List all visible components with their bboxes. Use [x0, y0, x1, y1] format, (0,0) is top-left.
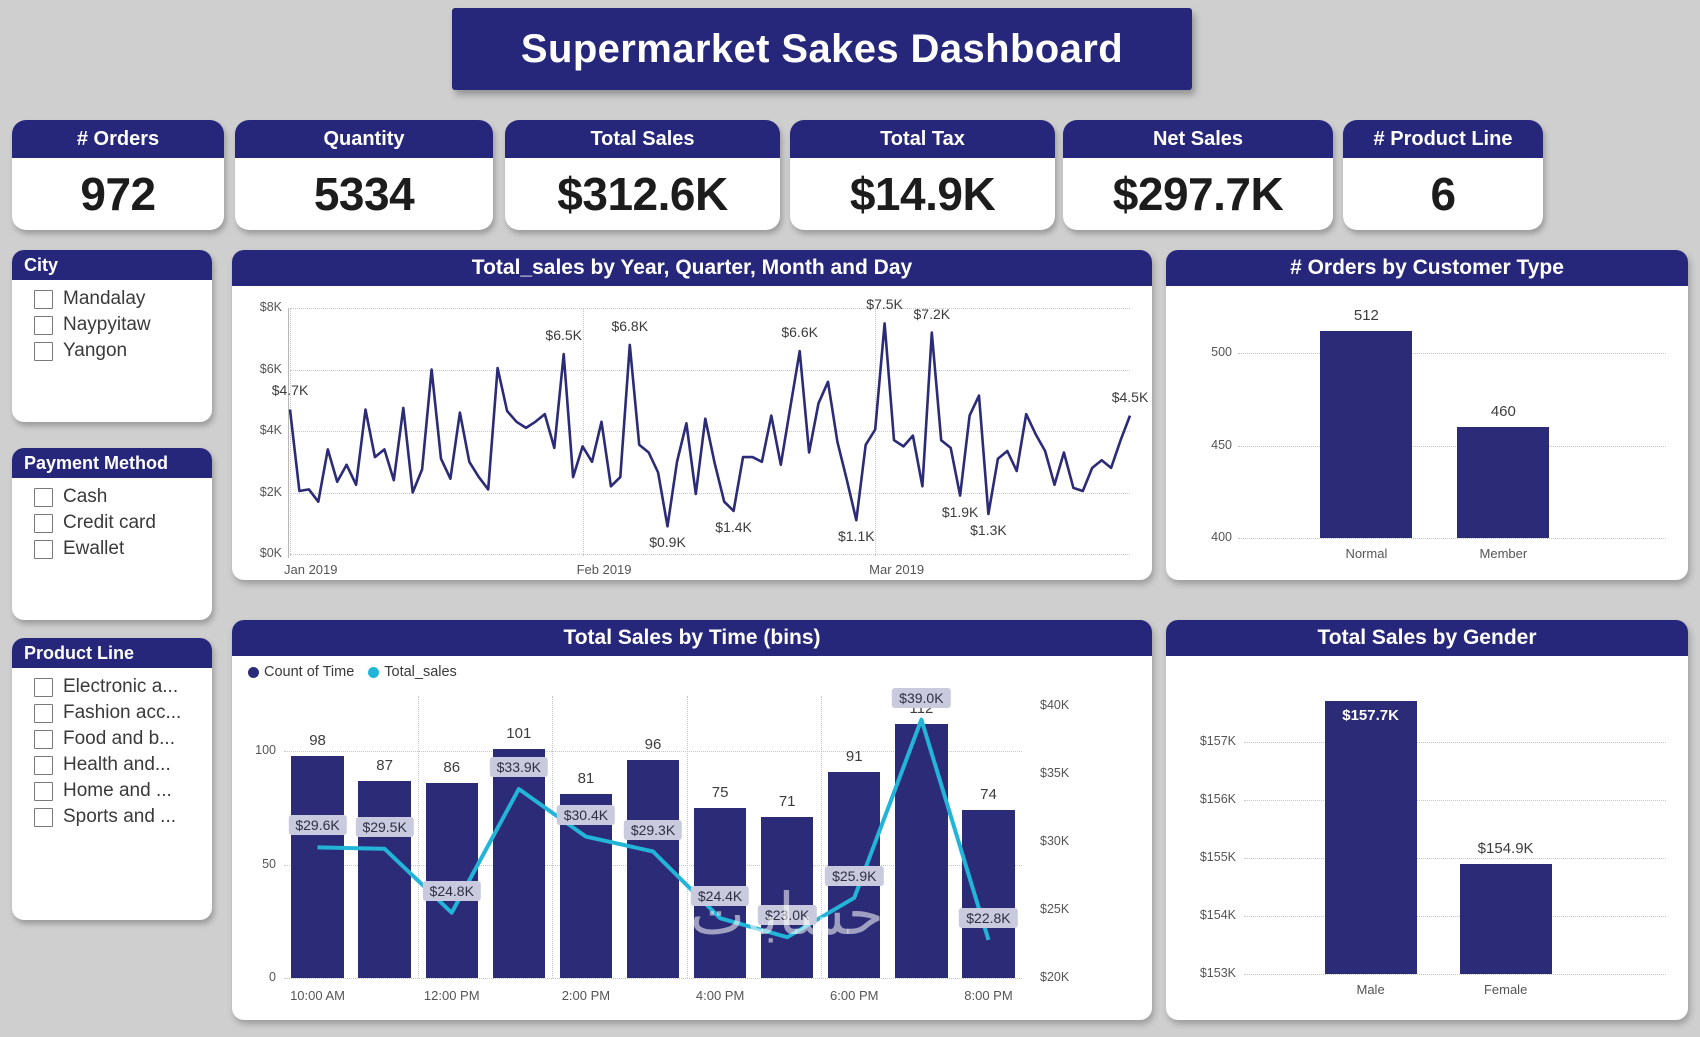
panel-total-sales-by-time: Total Sales by Time (bins) Count of Time…	[232, 620, 1152, 1020]
x-axis-tick: Female	[1484, 982, 1527, 997]
kpi-value: 6	[1343, 158, 1543, 230]
slicer-item-label: Fashion acc...	[63, 702, 181, 724]
kpi-label: # Orders	[12, 120, 224, 158]
line-value-label: $33.9K	[490, 757, 548, 777]
panel-title: # Orders by Customer Type	[1166, 250, 1688, 286]
slicer-item-label: Yangon	[63, 340, 127, 362]
time-bins-chart[interactable]: Count of TimeTotal_sales050100$20K$25K$3…	[232, 656, 1152, 1020]
bar-value-label: 512	[1354, 307, 1379, 324]
slicer-item-label: Food and b...	[63, 728, 175, 750]
x-axis-tick: Mar 2019	[869, 562, 924, 577]
slicer-item[interactable]: Naypyitaw	[12, 312, 212, 338]
slicer-payment-method: Payment MethodCashCredit cardEwallet	[12, 448, 212, 620]
kpi-card: # Orders972	[12, 120, 224, 230]
kpi-value: $14.9K	[790, 158, 1055, 230]
slicer-product-line: Product LineElectronic a...Fashion acc..…	[12, 638, 212, 920]
kpi-label: Total Tax	[790, 120, 1055, 158]
gridline	[1244, 742, 1666, 743]
checkbox-icon[interactable]	[34, 514, 53, 533]
bar-value-label: $154.9K	[1478, 840, 1534, 857]
slicer-items: Electronic a...Fashion acc...Food and b.…	[12, 668, 212, 840]
kpi-label: Quantity	[235, 120, 493, 158]
checkbox-icon[interactable]	[34, 782, 53, 801]
kpi-card: Total Sales$312.6K	[505, 120, 780, 230]
kpi-value: 5334	[235, 158, 493, 230]
slicer-items: CashCredit cardEwallet	[12, 478, 212, 572]
gender-chart[interactable]: $153K$154K$155K$156K$157K$157.7KMale$154…	[1166, 656, 1688, 1020]
gridline	[1244, 858, 1666, 859]
gridline	[1238, 538, 1666, 539]
data-label: $0.9K	[649, 534, 686, 550]
data-label: $1.9K	[942, 504, 979, 520]
slicer-item[interactable]: Yangon	[12, 338, 212, 364]
kpi-label: Net Sales	[1063, 120, 1333, 158]
slicer-item[interactable]: Ewallet	[12, 536, 212, 562]
kpi-value: $297.7K	[1063, 158, 1333, 230]
checkbox-icon[interactable]	[34, 808, 53, 827]
line-value-label: $24.4K	[691, 886, 749, 906]
x-axis-tick: 8:00 PM	[964, 988, 1012, 1003]
slicer-item[interactable]: Fashion acc...	[12, 700, 212, 726]
slicer-items: MandalayNaypyitawYangon	[12, 280, 212, 374]
customer-type-chart[interactable]: 400450500512Normal460Member	[1166, 286, 1688, 580]
checkbox-icon[interactable]	[34, 678, 53, 697]
line-value-label: $29.3K	[624, 820, 682, 840]
y-axis-tick: $155K	[1180, 850, 1236, 864]
line-value-label: $25.9K	[825, 866, 883, 886]
x-axis-tick: 2:00 PM	[562, 988, 610, 1003]
slicer-item-label: Cash	[63, 486, 107, 508]
dashboard-page: Supermarket Sakes Dashboard # Orders972Q…	[0, 0, 1700, 1037]
x-axis-tick: 10:00 AM	[290, 988, 345, 1003]
x-axis-tick: 12:00 PM	[424, 988, 480, 1003]
kpi-card: # Product Line6	[1343, 120, 1543, 230]
data-label: $1.4K	[715, 519, 752, 535]
slicer-item-label: Naypyitaw	[63, 314, 151, 336]
kpi-card: Total Tax$14.9K	[790, 120, 1055, 230]
data-label: $6.6K	[781, 324, 818, 340]
panel-orders-by-customer-type: # Orders by Customer Type 400450500512No…	[1166, 250, 1688, 580]
slicer-item-label: Home and ...	[63, 780, 172, 802]
data-label: $7.5K	[866, 296, 903, 312]
gridline	[1238, 353, 1666, 354]
slicer-title: City	[12, 250, 212, 280]
checkbox-icon[interactable]	[34, 342, 53, 361]
y-axis-tick: $154K	[1180, 908, 1236, 922]
data-label: $1.3K	[970, 522, 1007, 538]
panel-title: Total_sales by Year, Quarter, Month and …	[232, 250, 1152, 286]
kpi-value: $312.6K	[505, 158, 780, 230]
dashboard-title: Supermarket Sakes Dashboard	[452, 8, 1192, 90]
bar[interactable]	[1460, 864, 1552, 974]
data-label: $7.2K	[914, 306, 951, 322]
dashboard-title-text: Supermarket Sakes Dashboard	[521, 27, 1123, 72]
panel-title: Total Sales by Gender	[1166, 620, 1688, 656]
bar-value-label: 460	[1491, 403, 1516, 420]
bar[interactable]	[1457, 427, 1549, 538]
checkbox-icon[interactable]	[34, 488, 53, 507]
panel-title: Total Sales by Time (bins)	[232, 620, 1152, 656]
panel-total-sales-by-gender: Total Sales by Gender $153K$154K$155K$15…	[1166, 620, 1688, 1020]
line-value-label: $29.6K	[288, 815, 346, 835]
kpi-label: # Product Line	[1343, 120, 1543, 158]
data-label: $1.1K	[838, 528, 875, 544]
slicer-item[interactable]: Health and...	[12, 752, 212, 778]
x-axis-tick: Member	[1480, 546, 1528, 561]
slicer-item-label: Health and...	[63, 754, 171, 776]
y-axis-tick: $156K	[1180, 792, 1236, 806]
x-axis-tick: 6:00 PM	[830, 988, 878, 1003]
slicer-title: Product Line	[12, 638, 212, 668]
line-value-label: $39.0K	[892, 688, 950, 708]
y-axis-tick: $153K	[1180, 966, 1236, 980]
y-axis-tick: 500	[1188, 345, 1232, 359]
kpi-label: Total Sales	[505, 120, 780, 158]
checkbox-icon[interactable]	[34, 756, 53, 775]
checkbox-icon[interactable]	[34, 290, 53, 309]
bar[interactable]	[1325, 701, 1417, 974]
data-label: $6.5K	[545, 327, 582, 343]
line-series-total-sales	[232, 286, 1152, 580]
slicer-item[interactable]: Food and b...	[12, 726, 212, 752]
x-axis-tick: 4:00 PM	[696, 988, 744, 1003]
gridline	[1238, 446, 1666, 447]
bar[interactable]	[1320, 331, 1412, 538]
slicer-item[interactable]: Electronic a...	[12, 674, 212, 700]
line-value-label: $24.8K	[423, 881, 481, 901]
gridline	[1244, 916, 1666, 917]
data-label: $4.7K	[272, 382, 309, 398]
kpi-card: Net Sales$297.7K	[1063, 120, 1333, 230]
kpi-card: Quantity5334	[235, 120, 493, 230]
slicer-item-label: Electronic a...	[63, 676, 178, 698]
gridline	[1244, 974, 1666, 975]
slicer-item[interactable]: Sports and ...	[12, 804, 212, 830]
x-axis-tick: Jan 2019	[284, 562, 338, 577]
x-axis-tick: Normal	[1345, 546, 1387, 561]
slicer-item-label: Ewallet	[63, 538, 124, 560]
slicer-item[interactable]: Cash	[12, 484, 212, 510]
data-label: $4.5K	[1112, 389, 1149, 405]
line-value-label: $23.0K	[758, 905, 816, 925]
line-series-total-sales	[232, 656, 1152, 1020]
slicer-item[interactable]: Credit card	[12, 510, 212, 536]
line-value-label: $29.5K	[355, 817, 413, 837]
checkbox-icon[interactable]	[34, 316, 53, 335]
y-axis-tick: 400	[1188, 530, 1232, 544]
slicer-item-label: Mandalay	[63, 288, 145, 310]
slicer-item-label: Sports and ...	[63, 806, 176, 828]
slicer-item[interactable]: Mandalay	[12, 286, 212, 312]
bar-value-label: $157.7K	[1342, 707, 1399, 724]
checkbox-icon[interactable]	[34, 540, 53, 559]
slicer-item-label: Credit card	[63, 512, 156, 534]
data-label: $6.8K	[611, 318, 648, 334]
slicer-item[interactable]: Home and ...	[12, 778, 212, 804]
x-axis-tick: Male	[1357, 982, 1385, 997]
line-chart[interactable]: $0K$2K$4K$6K$8K$4.7K$6.5K$6.8K$0.9K$1.4K…	[232, 286, 1152, 580]
x-axis-tick: Feb 2019	[577, 562, 632, 577]
checkbox-icon[interactable]	[34, 730, 53, 749]
y-axis-tick: 450	[1188, 438, 1232, 452]
slicer-title: Payment Method	[12, 448, 212, 478]
line-value-label: $22.8K	[959, 908, 1017, 928]
gridline	[1244, 800, 1666, 801]
kpi-value: 972	[12, 158, 224, 230]
slicer-city: CityMandalayNaypyitawYangon	[12, 250, 212, 422]
y-axis-tick: $157K	[1180, 734, 1236, 748]
panel-total-sales-by-day: Total_sales by Year, Quarter, Month and …	[232, 250, 1152, 580]
checkbox-icon[interactable]	[34, 704, 53, 723]
line-value-label: $30.4K	[557, 805, 615, 825]
